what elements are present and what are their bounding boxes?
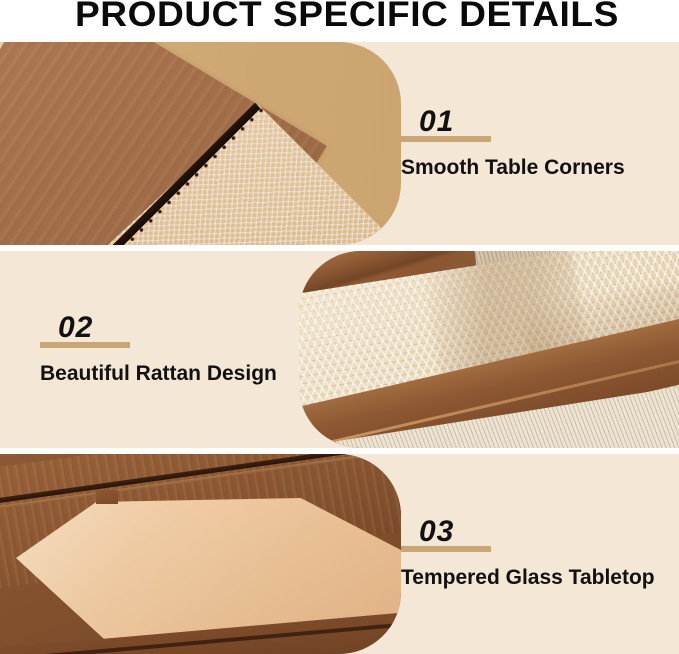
product-details-infographic: PRODUCT SPECIFIC DETAILS 01 Smooth Table… bbox=[0, 0, 679, 654]
page-title: PRODUCT SPECIFIC DETAILS bbox=[60, 0, 619, 33]
detail-panel-01: 01 Smooth Table Corners bbox=[0, 42, 679, 245]
panel-02-number: 02 bbox=[40, 313, 130, 343]
tabletop-edge-highlight bbox=[0, 42, 35, 240]
panel-03-number-block: 03 bbox=[401, 517, 491, 547]
panel-02-photo bbox=[299, 251, 679, 448]
panel-01-number: 01 bbox=[401, 107, 491, 137]
panel-03-label: Tempered Glass Tabletop bbox=[401, 565, 679, 591]
glass-corner-notch bbox=[96, 490, 118, 504]
panel-03-number: 03 bbox=[401, 517, 491, 547]
detail-panel-02: 02 Beautiful Rattan Design bbox=[0, 251, 679, 448]
detail-panel-03: 03 Tempered Glass Tabletop bbox=[0, 454, 679, 654]
panel-02-caption: 02 Beautiful Rattan Design bbox=[0, 251, 340, 448]
panel-02-label: Beautiful Rattan Design bbox=[40, 361, 340, 387]
panel-03-caption: 03 Tempered Glass Tabletop bbox=[387, 454, 679, 654]
panel-01-number-block: 01 bbox=[401, 107, 491, 137]
panel-01-label: Smooth Table Corners bbox=[401, 155, 679, 181]
panel-02-number-block: 02 bbox=[40, 313, 130, 343]
page-title-bar: PRODUCT SPECIFIC DETAILS bbox=[0, 0, 679, 42]
panel-01-caption: 01 Smooth Table Corners bbox=[387, 42, 679, 245]
panel-03-photo bbox=[0, 454, 401, 654]
panel-01-photo bbox=[0, 42, 401, 245]
